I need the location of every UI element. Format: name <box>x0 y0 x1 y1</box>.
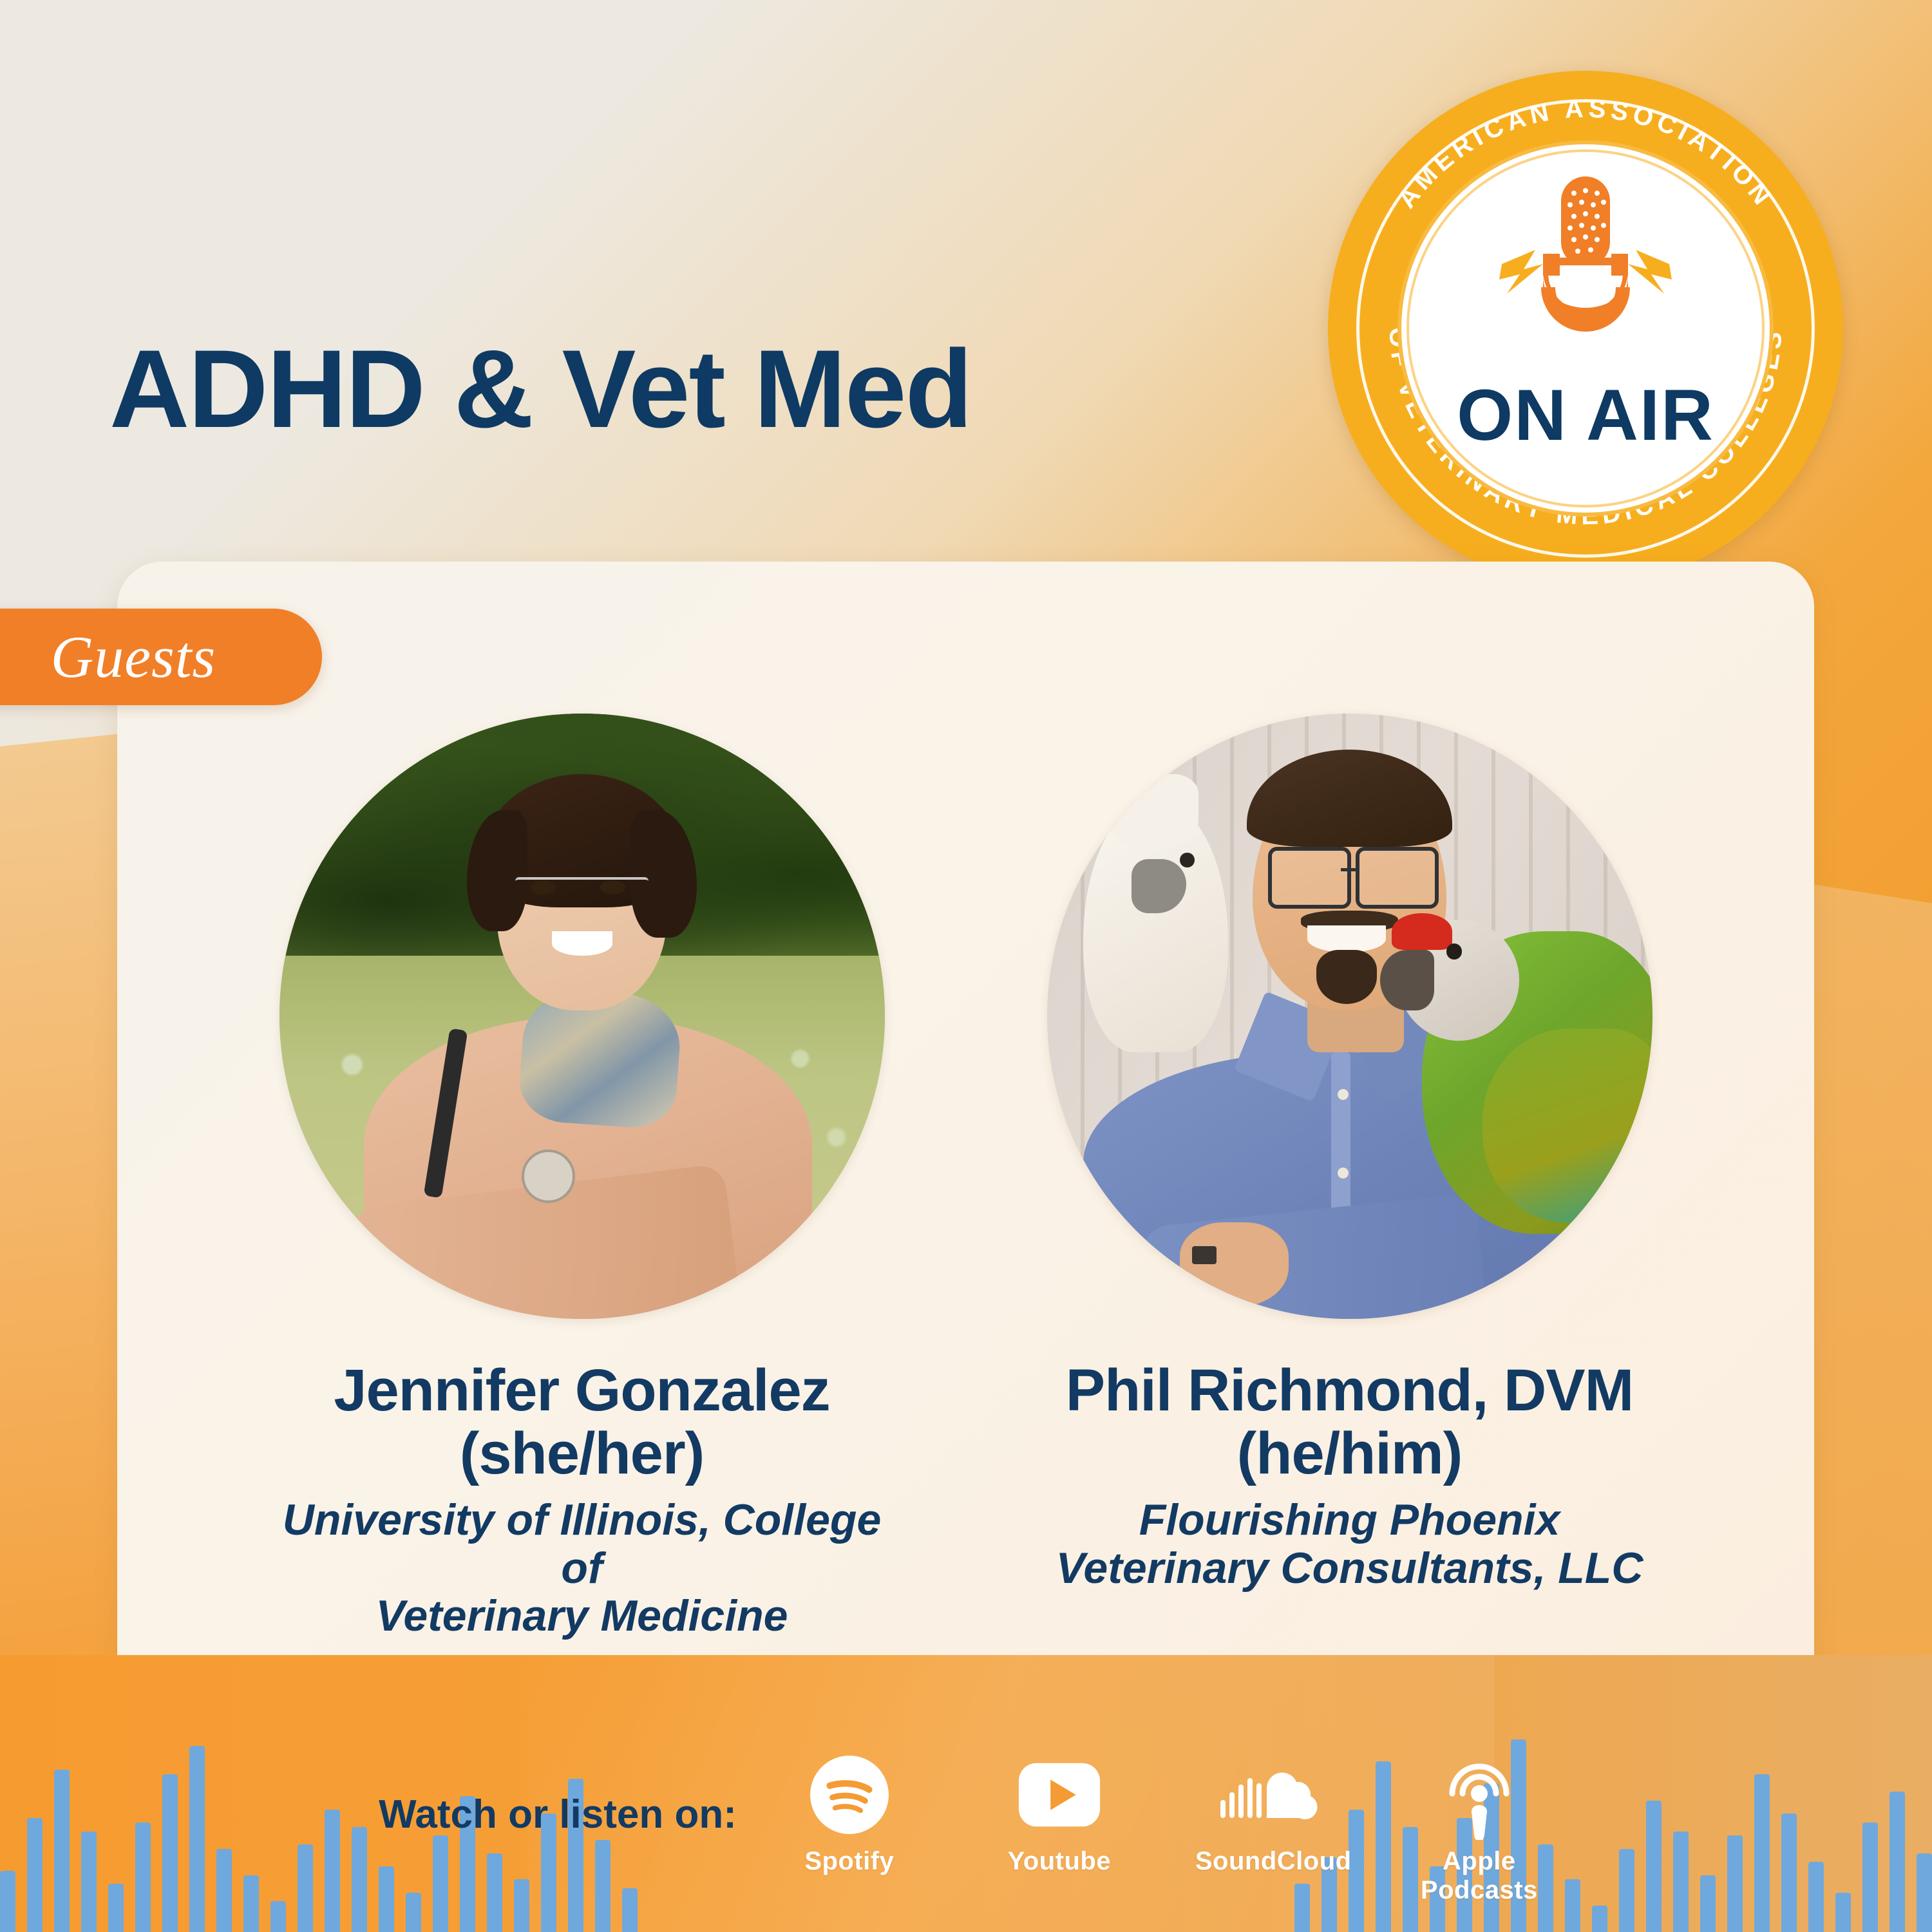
guests-row: Jennifer Gonzalez (she/her) University o… <box>117 714 1814 1640</box>
platform-apple-podcasts[interactable]: Apple Podcasts <box>1405 1747 1553 1905</box>
guest-affiliation-2: Flourishing Phoenix Veterinary Consultan… <box>1025 1496 1675 1593</box>
apple-podcasts-icon <box>1405 1747 1553 1843</box>
platform-soundcloud[interactable]: SoundCloud <box>1195 1747 1343 1876</box>
platform-spotify-label: Spotify <box>775 1847 923 1876</box>
on-air-badge: AMERICAN ASSOCIATION OF VETERINARY MEDIC… <box>1328 71 1843 586</box>
microphone-icon <box>1328 167 1843 364</box>
page-title: ADHD & Vet Med <box>109 334 972 444</box>
guest-affiliation-2-line2: Veterinary Consultants, LLC <box>1025 1544 1675 1593</box>
guests-tab-label: Guests <box>0 609 292 705</box>
guest-name-1: Jennifer Gonzalez (she/her) <box>257 1359 907 1486</box>
guest-card-2: Phil Richmond, DVM (he/him) Flourishing … <box>1025 714 1675 1640</box>
guest-card-1: Jennifer Gonzalez (she/her) University o… <box>257 714 907 1640</box>
guest-pronouns-2: (he/him) <box>1025 1422 1675 1485</box>
guest-name-2: Phil Richmond, DVM (he/him) <box>1025 1359 1675 1486</box>
guest-pronouns-1: (she/her) <box>257 1422 907 1485</box>
listen-bar: Watch or listen on: Spotify <box>0 1719 1932 1932</box>
badge-center-label: ON AIR <box>1328 374 1843 457</box>
guest-fullname-2: Phil Richmond, DVM <box>1025 1359 1675 1422</box>
platform-soundcloud-label: SoundCloud <box>1195 1847 1343 1876</box>
platform-list: Spotify Youtube <box>775 1747 1553 1905</box>
spotify-icon <box>775 1747 923 1843</box>
avatar-jennifer-gonzalez <box>279 714 885 1319</box>
platform-spotify[interactable]: Spotify <box>775 1747 923 1876</box>
soundcloud-icon <box>1195 1747 1343 1843</box>
listen-label: Watch or listen on: <box>379 1792 737 1837</box>
platform-youtube[interactable]: Youtube <box>985 1747 1133 1876</box>
platform-youtube-label: Youtube <box>985 1847 1133 1876</box>
guests-tab: Guests <box>0 609 322 705</box>
guest-affiliation-2-line1: Flourishing Phoenix <box>1025 1496 1675 1544</box>
platform-apple-podcasts-label: Apple Podcasts <box>1405 1847 1553 1905</box>
guest-affiliation-1-line1: University of Illinois, College of <box>257 1496 907 1593</box>
guest-affiliation-1: University of Illinois, College of Veter… <box>257 1496 907 1640</box>
guests-card: Jennifer Gonzalez (she/her) University o… <box>117 562 1814 1759</box>
guest-affiliation-1-line2: Veterinary Medicine <box>257 1592 907 1640</box>
youtube-icon <box>985 1747 1133 1843</box>
guest-fullname-1: Jennifer Gonzalez <box>257 1359 907 1422</box>
avatar-phil-richmond <box>1047 714 1653 1319</box>
podcast-promo-poster: ADHD & Vet Med AMERICAN ASSOCIATION OF V… <box>0 0 1932 1932</box>
